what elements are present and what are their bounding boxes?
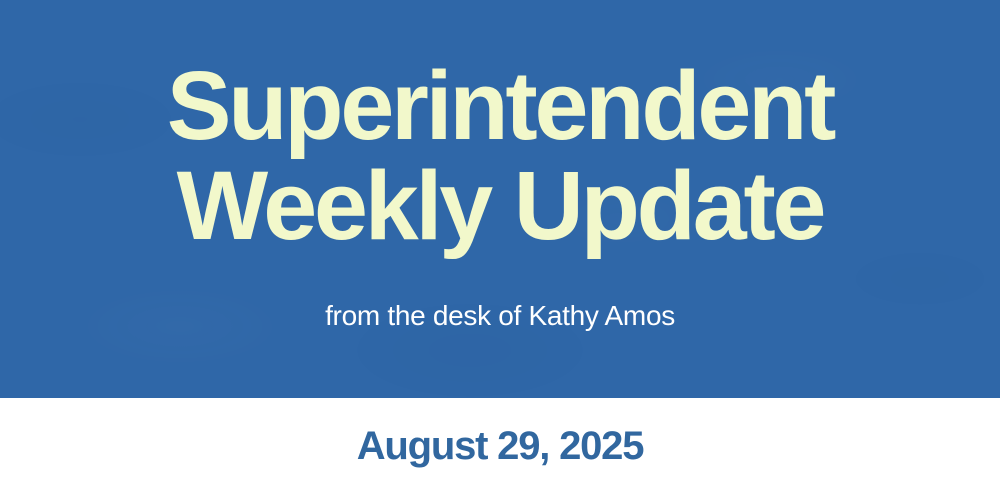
page-subtitle: from the desk of Kathy Amos: [0, 300, 1000, 332]
page-title-line-1: Superintendent: [0, 56, 1000, 156]
footer-white-band: August 29, 2025: [0, 398, 1000, 495]
hero-blue-band: Superintendent Weekly Update from the de…: [0, 0, 1000, 398]
page-title: Superintendent Weekly Update: [0, 56, 1000, 256]
issue-date: August 29, 2025: [0, 424, 1000, 469]
superintendent-weekly-update-banner: Superintendent Weekly Update from the de…: [0, 0, 1000, 495]
page-title-line-2: Weekly Update: [0, 156, 1000, 256]
